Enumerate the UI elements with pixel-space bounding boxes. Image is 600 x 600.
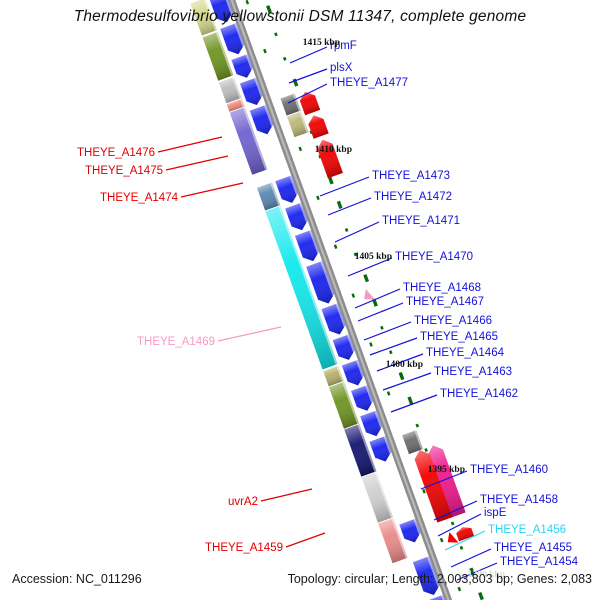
gene-label[interactable]: THEYE_A1456 — [488, 524, 566, 536]
gene-label[interactable]: THEYE_A1474 — [100, 192, 178, 204]
gene-label[interactable]: THEYE_A1467 — [406, 296, 484, 308]
gene-label[interactable]: THEYE_A1472 — [374, 191, 452, 203]
gene-label[interactable]: THEYE_A1466 — [414, 315, 492, 327]
page-title: Thermodesulfovibrio yellowstonii DSM 113… — [0, 8, 600, 26]
gene-label[interactable]: ispE — [484, 507, 506, 519]
gene-label[interactable]: THEYE_A1458 — [480, 494, 558, 506]
scale-tick-label: 1415 kbp — [303, 38, 340, 48]
gene-label[interactable]: THEYE_A1471 — [382, 215, 460, 227]
gene-feature-reverse[interactable] — [306, 113, 329, 139]
gene-label[interactable]: THEYE_A1464 — [426, 347, 504, 359]
gene-label[interactable]: THEYE_A1463 — [434, 366, 512, 378]
rna-feature-marker[interactable] — [445, 530, 459, 546]
gene-label[interactable]: THEYE_A1468 — [403, 282, 481, 294]
scale-tick-label: 1410 kbp — [315, 145, 352, 155]
gene-feature[interactable] — [281, 94, 301, 116]
gene-label[interactable]: THEYE_A1470 — [395, 251, 473, 263]
gene-label[interactable]: THEYE_A1462 — [440, 388, 518, 400]
gene-label[interactable]: THEYE_A1477 — [330, 77, 408, 89]
gene-label[interactable]: THEYE_A1465 — [420, 331, 498, 343]
scale-tick-label: 1395 kbp — [428, 465, 465, 475]
gene-label[interactable]: THEYE_A1460 — [470, 464, 548, 476]
gene-label[interactable]: THEYE_A1454 — [500, 556, 578, 568]
gene-label[interactable]: uvrA2 — [228, 496, 258, 508]
gene-feature[interactable] — [329, 382, 359, 429]
genome-map-viewer: Thermodesulfovibrio yellowstonii DSM 113… — [0, 0, 600, 600]
gene-feature[interactable] — [257, 182, 280, 210]
gene-label[interactable]: THEYE_A1469 — [137, 336, 215, 348]
gene-label[interactable]: plsX — [330, 62, 352, 74]
scale-tick-label: 1400 kbp — [386, 360, 423, 370]
gene-label[interactable]: THEYE_A1455 — [494, 542, 572, 554]
gene-feature[interactable] — [362, 472, 393, 523]
accession-text: Accession: NC_011296 — [12, 572, 142, 586]
scale-tick-label: 1405 kbp — [355, 252, 392, 262]
genome-map-canvas — [0, 0, 600, 600]
gene-feature-reverse[interactable] — [455, 525, 474, 542]
gene-label[interactable]: THEYE_A1475 — [85, 165, 163, 177]
gene-feature[interactable] — [219, 77, 242, 103]
gene-label[interactable]: THEYE_A1459 — [205, 542, 283, 554]
gene-label[interactable]: THEYE_A1473 — [372, 170, 450, 182]
gene-feature[interactable] — [287, 111, 309, 137]
gene-label[interactable]: THEYE_A1476 — [77, 147, 155, 159]
genome-stats-text: Topology: circular; Length: 2,003,803 bp… — [288, 572, 592, 586]
